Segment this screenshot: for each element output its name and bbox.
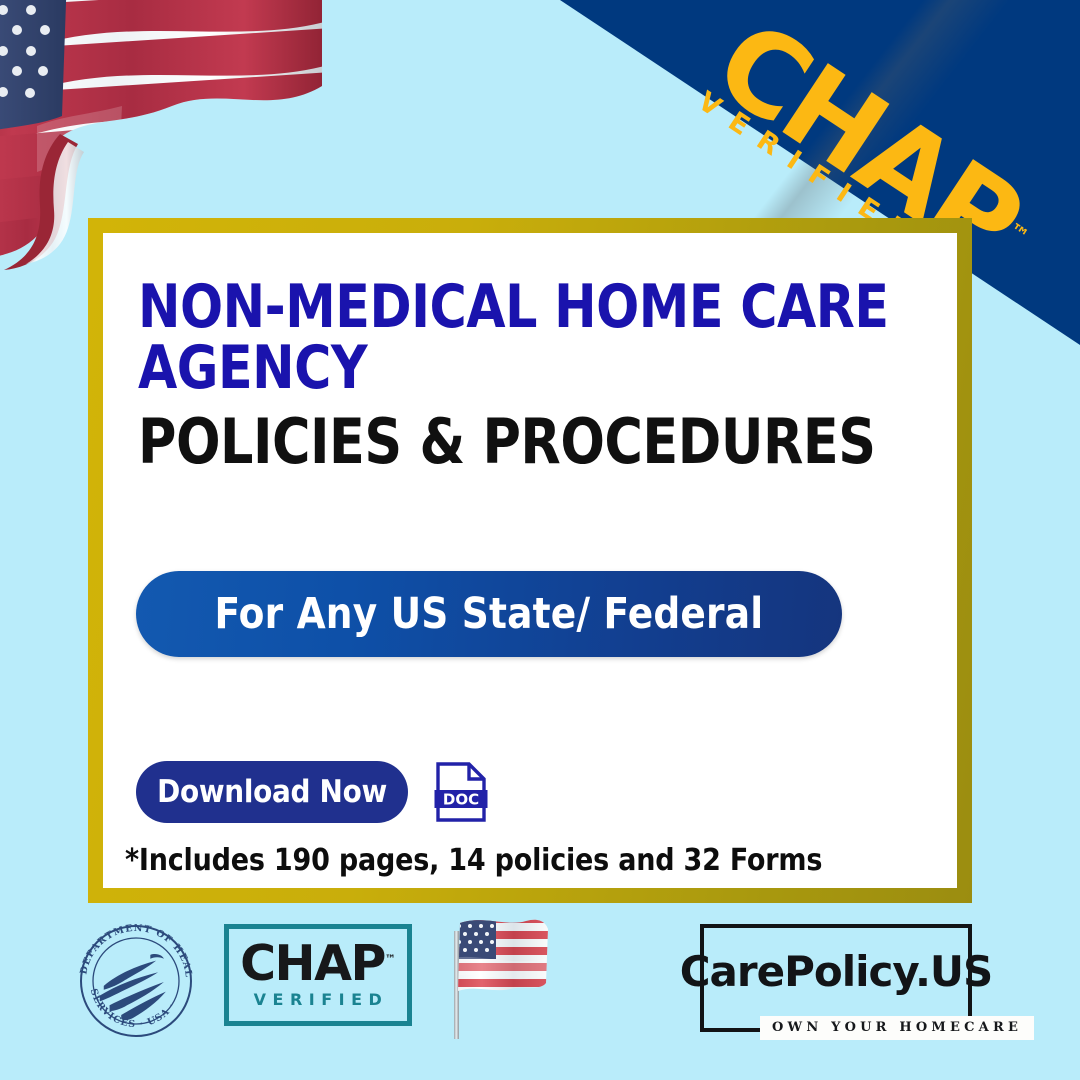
chap-badge-subtitle: VERIFIED xyxy=(254,990,389,1009)
scope-pill[interactable]: For Any US State/ Federal xyxy=(136,571,842,657)
chap-verified-badge: CHAP™ VERIFIED xyxy=(224,924,412,1026)
page-title-secondary: POLICIES & PROCEDURES xyxy=(138,410,908,473)
hhs-seal-icon: DEPARTMENT OF HEALTH & HUMAN SERVICES · … xyxy=(74,919,198,1043)
includes-note: *Includes 190 pages, 14 policies and 32 … xyxy=(125,843,822,878)
page-title-line2: AGENCY xyxy=(138,333,367,403)
download-button-label: Download Now xyxy=(157,774,387,810)
main-card-inner: NON-MEDICAL HOME CARE AGENCY POLICIES & … xyxy=(103,233,957,888)
download-button[interactable]: Download Now xyxy=(136,761,408,823)
main-card: NON-MEDICAL HOME CARE AGENCY POLICIES & … xyxy=(88,218,972,903)
carepolicy-wordmark: CarePolicy.US xyxy=(680,947,993,996)
download-row: Download Now DOC xyxy=(136,761,488,823)
page-title-primary: NON-MEDICAL HOME CARE AGENCY xyxy=(138,277,908,399)
carepolicy-tagline: OWN YOUR HOMECARE xyxy=(760,1016,1034,1040)
badge-row: DEPARTMENT OF HEALTH & HUMAN SERVICES · … xyxy=(0,905,1080,1045)
page-title-line1: NON-MEDICAL HOME CARE xyxy=(138,272,889,342)
scope-pill-label: For Any US State/ Federal xyxy=(215,589,764,639)
chap-badge-trademark: ™ xyxy=(385,952,396,965)
doc-file-icon[interactable]: DOC xyxy=(434,761,488,823)
doc-icon-label: DOC xyxy=(443,791,479,809)
us-flag-small-icon xyxy=(448,913,554,1043)
chap-badge-wordmark: CHAP™ xyxy=(240,941,396,988)
